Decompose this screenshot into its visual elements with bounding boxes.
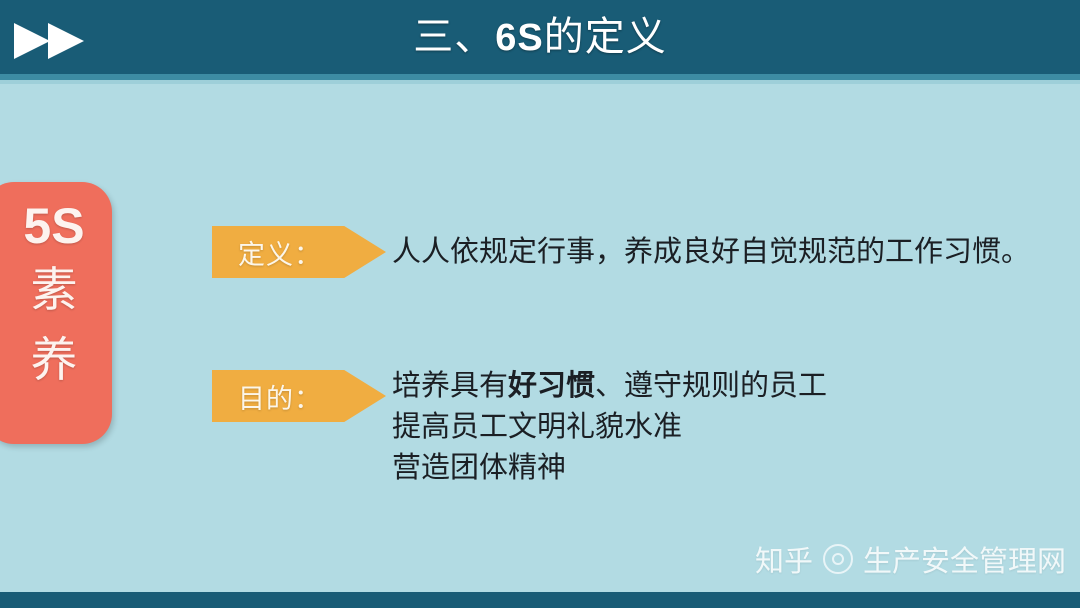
at-circle-icon	[823, 544, 853, 574]
badge-char-bottom: 养	[31, 326, 78, 396]
badge-char-top: 素	[31, 256, 78, 326]
chevron-definition-label: 定义：	[212, 233, 322, 272]
purpose-line-1-suffix: 、遵守规则的员工	[595, 370, 827, 402]
chevron-purpose: 目的：	[212, 370, 386, 422]
purpose-line-1-emphasis: 好习惯	[508, 370, 595, 402]
definition-line-1: 人人依规定行事，养成良好自觉规范的工作习惯。	[392, 232, 1030, 273]
purpose-text: 培养具有好习惯、遵守规则的员工 提高员工文明礼貌水准 营造团体精神	[392, 366, 827, 489]
watermark-platform: 知乎	[755, 538, 813, 580]
page-title-bold: 6S	[495, 17, 543, 59]
purpose-line-3: 营造团体精神	[392, 448, 827, 489]
chevron-definition: 定义：	[212, 226, 386, 278]
page-title-prefix: 三、	[413, 14, 495, 59]
slide-canvas: 三、6S的定义 5S 素 养 定义： 人人依规定行事，养成良好自觉规范的工作习惯…	[0, 0, 1080, 608]
page-title: 三、6S的定义	[0, 9, 1080, 66]
badge-label: 5S	[23, 196, 84, 256]
purpose-line-1: 培养具有好习惯、遵守规则的员工	[392, 366, 827, 407]
watermark: 知乎 生产安全管理网	[755, 538, 1066, 580]
footer-bar	[0, 592, 1080, 608]
watermark-site: 生产安全管理网	[863, 538, 1066, 580]
chevron-purpose-label: 目的：	[212, 377, 322, 416]
page-title-suffix: 的定义	[544, 14, 667, 59]
badge-5s-literacy: 5S 素 养	[0, 182, 112, 444]
header-accent-strip-light	[0, 80, 1080, 84]
purpose-line-1-prefix: 培养具有	[392, 370, 508, 402]
purpose-line-2: 提高员工文明礼貌水准	[392, 407, 827, 448]
definition-text: 人人依规定行事，养成良好自觉规范的工作习惯。	[392, 232, 1030, 273]
